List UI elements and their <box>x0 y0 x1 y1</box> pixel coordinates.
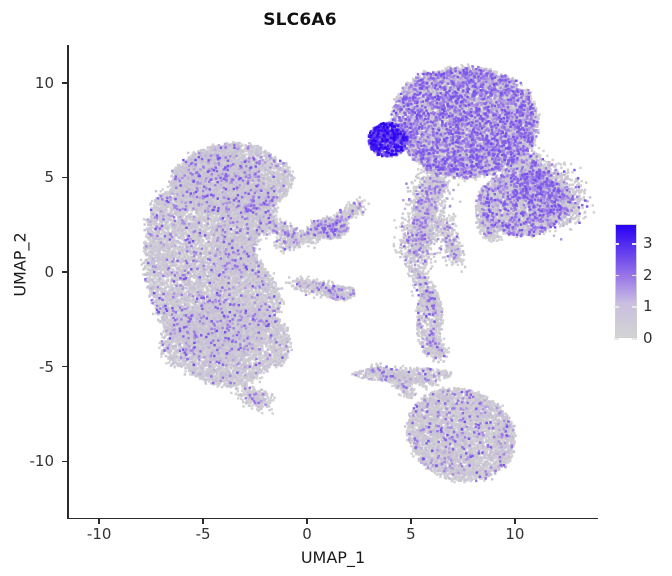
colorbar-tick-label: 3 <box>643 234 653 252</box>
x-tick-mark <box>202 519 203 524</box>
x-tick-mark <box>410 519 411 524</box>
x-axis-title: UMAP_1 <box>68 548 598 567</box>
colorbar-tick-left <box>614 306 619 308</box>
x-tick-label: -5 <box>173 525 233 543</box>
x-tick-mark <box>98 519 99 524</box>
x-tick-mark <box>514 519 515 524</box>
x-tick-label: 5 <box>381 525 441 543</box>
colorbar-tick-label: 1 <box>643 297 653 315</box>
colorbar-tick-label: 0 <box>643 329 653 347</box>
colorbar-tick-left <box>614 338 619 340</box>
y-axis-line <box>67 45 69 519</box>
colorbar-tick-left <box>614 243 619 245</box>
colorbar-tick-left <box>614 275 619 277</box>
scatter-plot-canvas <box>68 45 598 518</box>
x-axis-line <box>67 518 598 520</box>
colorbar-tick-right <box>632 243 637 245</box>
y-tick-mark <box>62 177 67 178</box>
y-tick-mark <box>62 271 67 272</box>
x-tick-label: 0 <box>277 525 337 543</box>
x-tick-label: 10 <box>485 525 545 543</box>
colorbar-gradient <box>615 224 637 338</box>
colorbar-tick-label: 2 <box>643 266 653 284</box>
colorbar-tick-right <box>632 338 637 340</box>
y-tick-mark <box>62 82 67 83</box>
x-tick-mark <box>306 519 307 524</box>
page-title: SLC6A6 <box>0 10 600 30</box>
x-tick-label: -10 <box>69 525 129 543</box>
y-tick-mark <box>62 366 67 367</box>
y-tick-label: -10 <box>10 452 54 470</box>
y-axis-title: UMAP_2 <box>11 145 30 385</box>
colorbar-tick-right <box>632 275 637 277</box>
umap-feature-plot: SLC6A6 1050-5-10 -10-50510 UMAP_1 UMAP_2… <box>0 0 672 576</box>
y-tick-mark <box>62 461 67 462</box>
expression-colorbar-legend: 3210 <box>613 222 671 347</box>
plot-panel <box>68 45 598 518</box>
y-tick-label: 10 <box>10 74 54 92</box>
colorbar-tick-right <box>632 306 637 308</box>
